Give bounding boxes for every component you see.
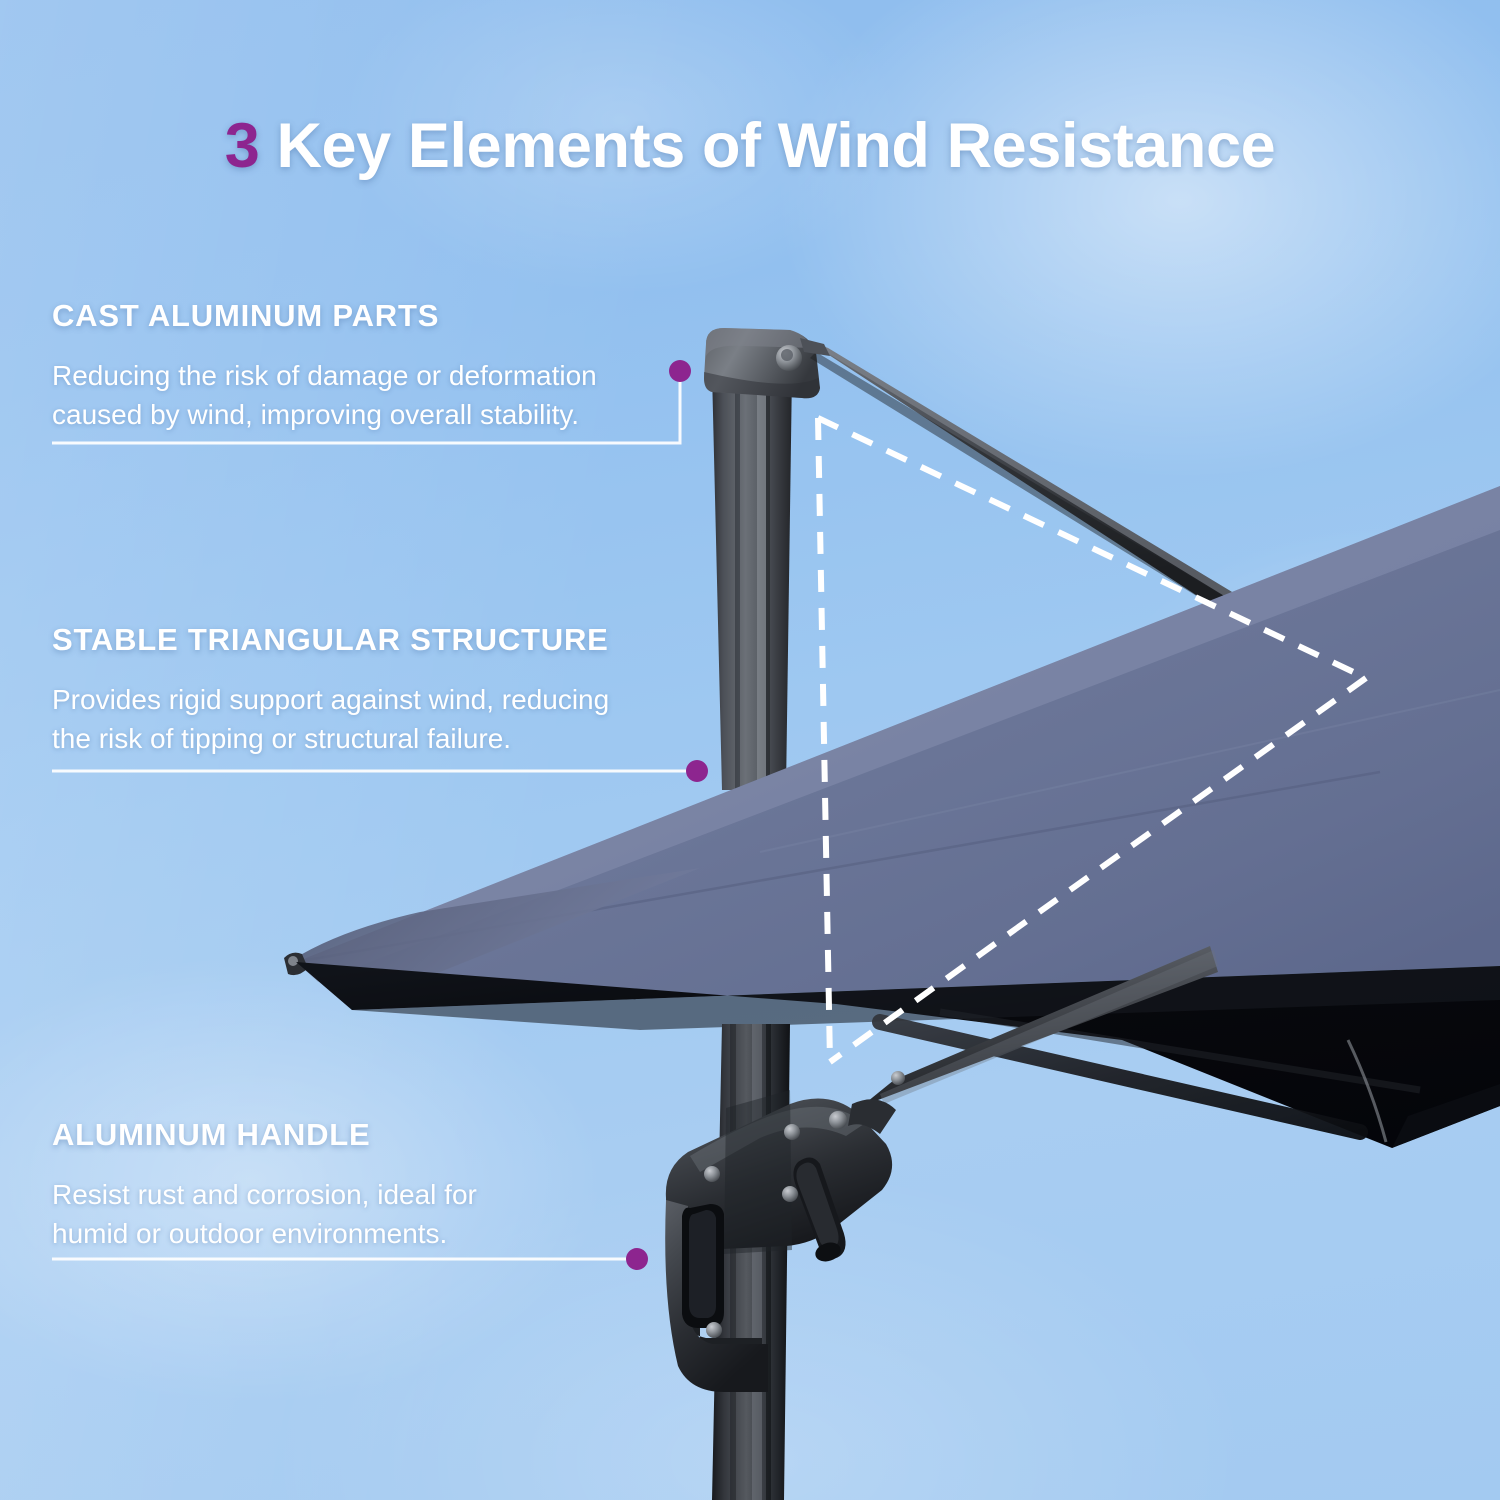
feature-block-stable-triangular-structure: STABLE TRIANGULAR STRUCTURE Provides rig… [52,622,609,759]
feature-body: Resist rust and corrosion, ideal for hum… [52,1175,477,1254]
page-title: 3 Key Elements of Wind Resistance [0,110,1500,182]
cast-aluminum-pivot-head [704,328,820,398]
feature-heading: CAST ALUMINUM PARTS [52,298,597,334]
feature-body: Reducing the risk of damage or deformati… [52,356,597,435]
feature-block-aluminum-handle: ALUMINUM HANDLE Resist rust and corrosio… [52,1117,477,1254]
feature-body-line-2: the risk of tipping or structural failur… [52,719,609,758]
umbrella-mast-upper [712,372,792,792]
infographic-canvas: 3 Key Elements of Wind Resistance CAST A… [0,0,1500,1500]
title-rest: Key Elements of Wind Resistance [259,111,1275,181]
feature-heading: ALUMINUM HANDLE [52,1117,477,1153]
feature-body-line-2: caused by wind, improving overall stabil… [52,395,597,434]
feature-body: Provides rigid support against wind, red… [52,680,609,759]
feature-body-line-1: Provides rigid support against wind, red… [52,680,609,719]
feature-body-line-1: Reducing the risk of damage or deformati… [52,356,597,395]
feature-body-line-2: humid or outdoor environments. [52,1214,477,1253]
feature-body-line-1: Resist rust and corrosion, ideal for [52,1175,477,1214]
feature-heading: STABLE TRIANGULAR STRUCTURE [52,622,609,658]
upper-support-arm [800,338,1232,608]
title-number: 3 [225,111,260,181]
feature-block-cast-aluminum-parts: CAST ALUMINUM PARTS Reducing the risk of… [52,298,597,435]
